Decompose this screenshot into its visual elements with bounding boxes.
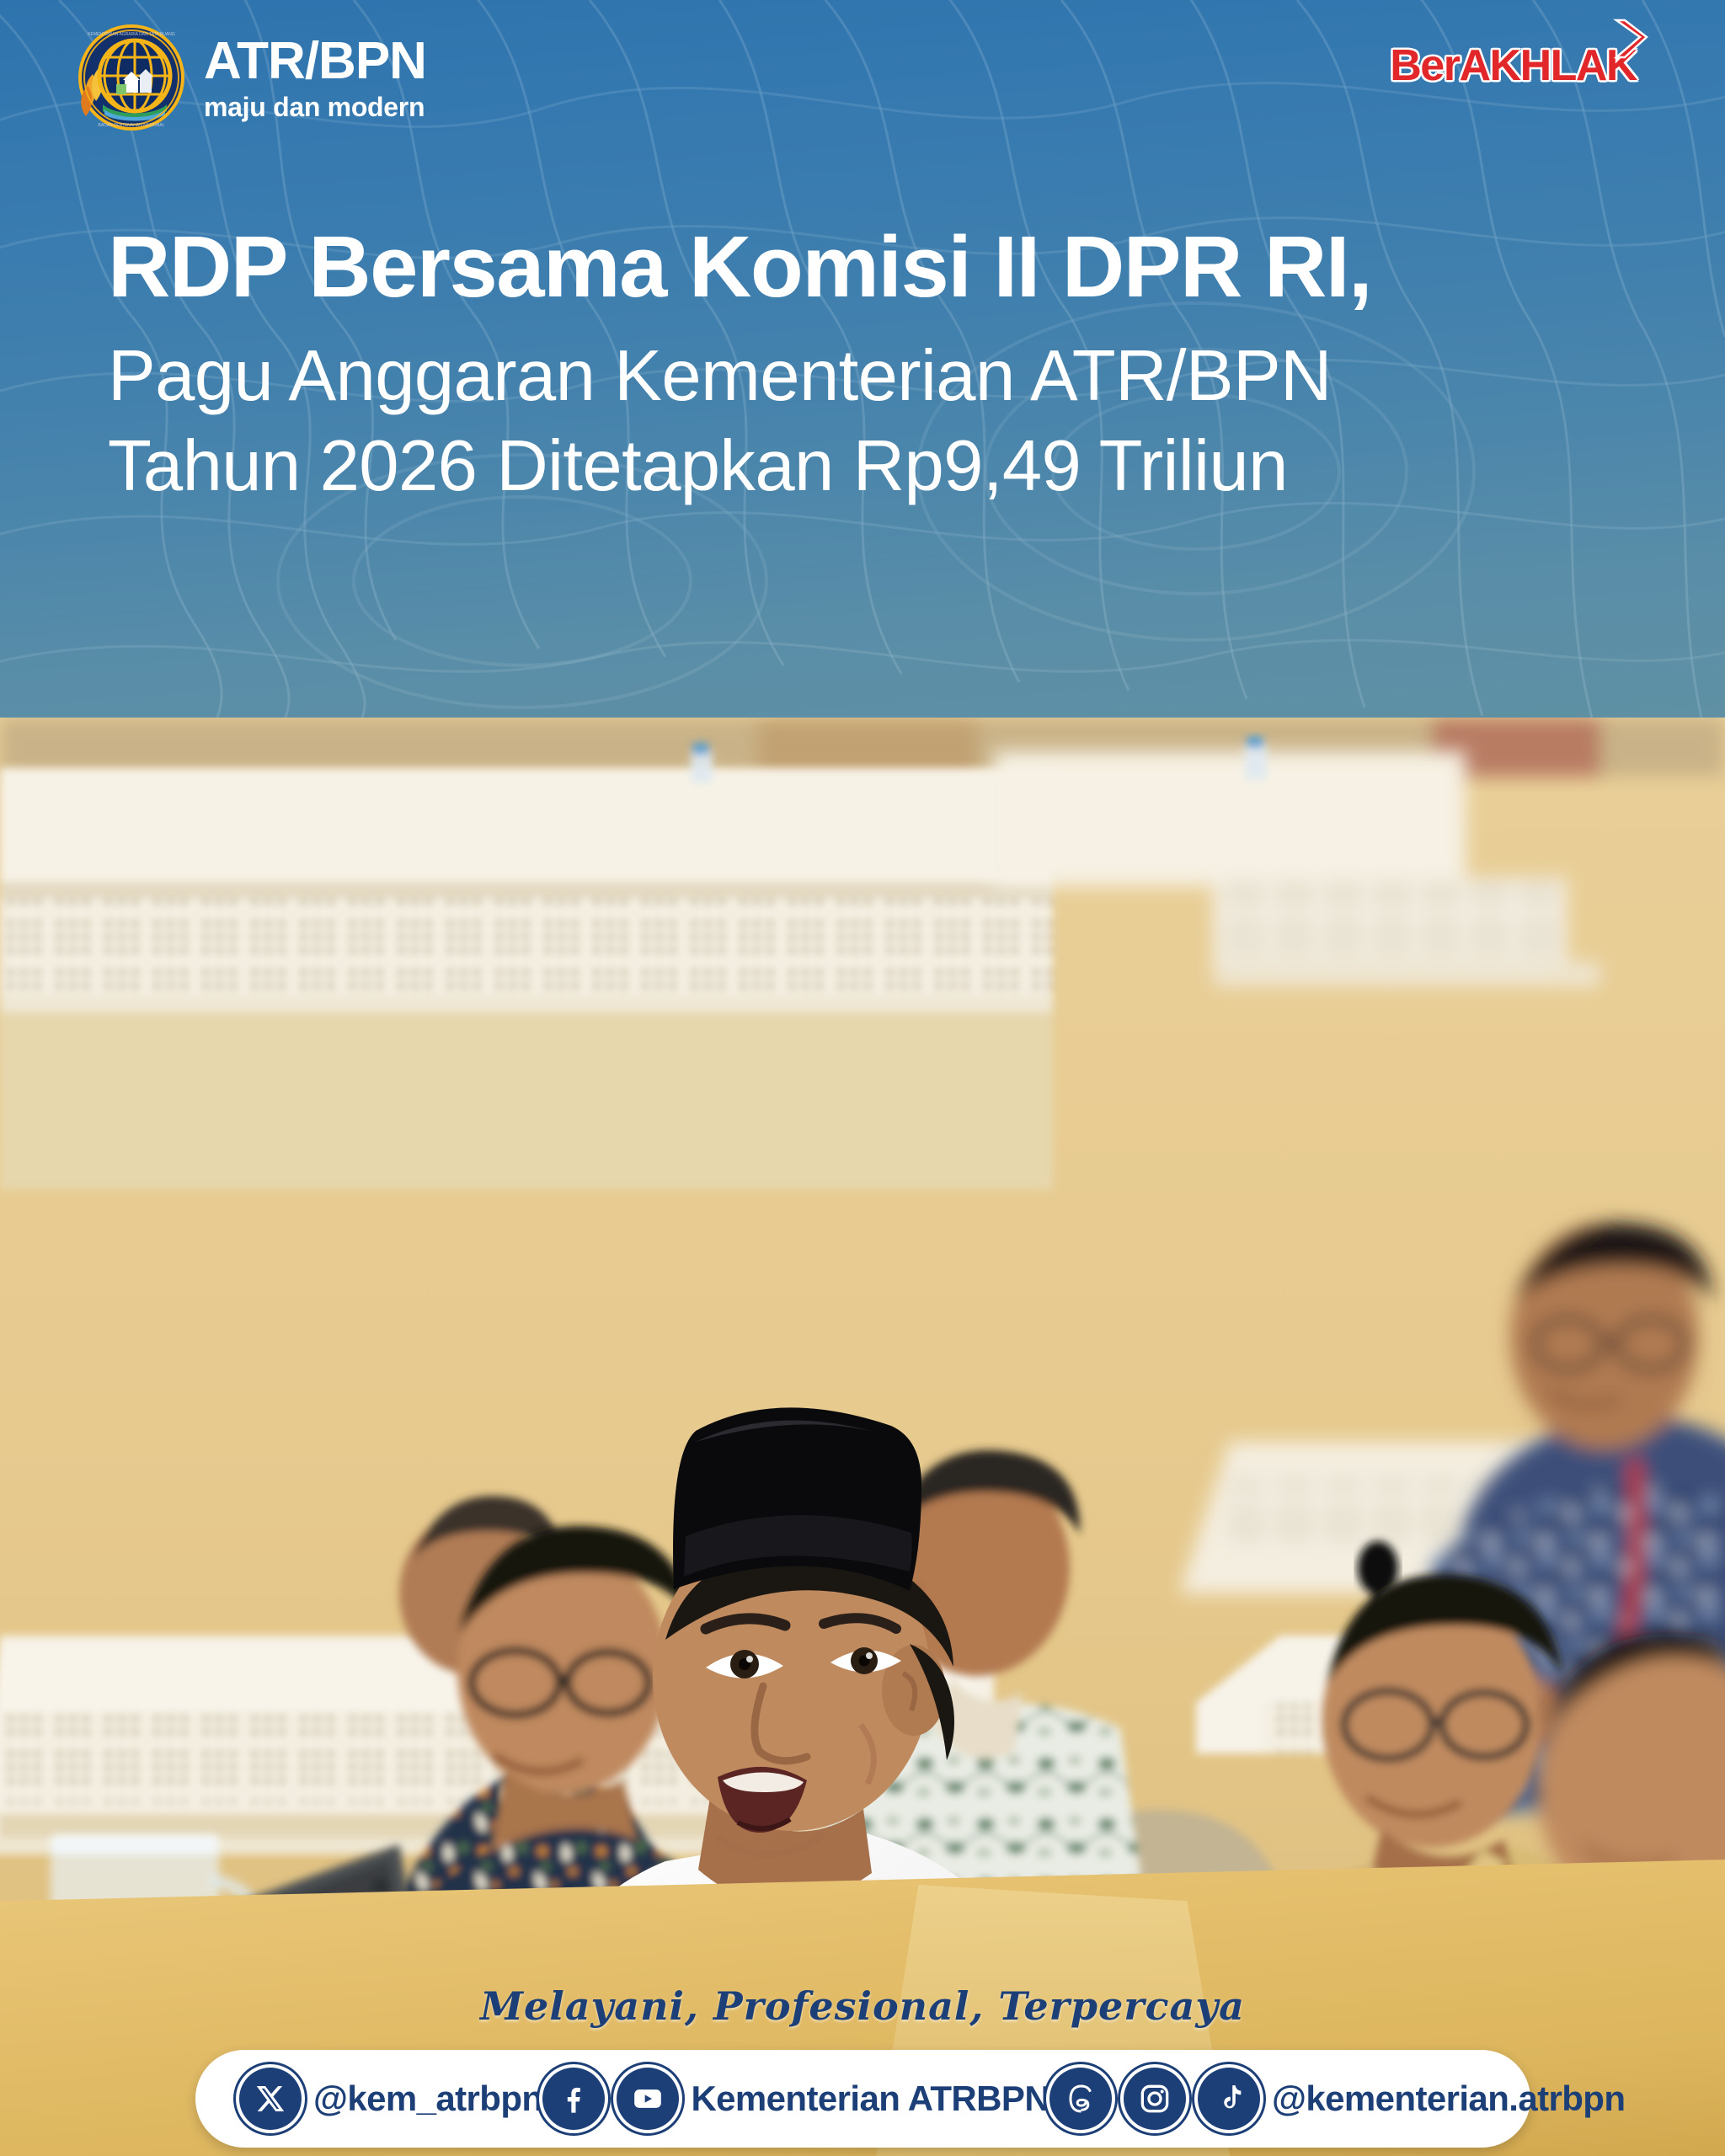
instagram-handle[interactable]: @kementerian.atrbpn — [1272, 2079, 1625, 2119]
svg-text:BADAN PERTANAHAN NASIONAL: BADAN PERTANAHAN NASIONAL — [98, 123, 164, 128]
social-group-threads-instagram-tiktok: @kementerian.atrbpn — [1049, 2068, 1625, 2130]
headline-block: RDP Bersama Komisi II DPR RI, Pagu Angga… — [108, 221, 1540, 511]
x-twitter-handle[interactable]: @kem_atrbpn — [313, 2079, 542, 2119]
instagram-icon[interactable] — [1124, 2068, 1186, 2130]
social-group-facebook-youtube: Kementerian ATRBPN — [542, 2068, 1049, 2130]
logo-tagline: maju dan modern — [204, 93, 426, 120]
logo-title: ATR/BPN — [204, 35, 426, 88]
tiktok-icon[interactable] — [1198, 2068, 1260, 2130]
page-subtitle-line1: Pagu Anggaran Kementerian ATR/BPN — [108, 331, 1540, 421]
atr-bpn-emblem-icon: KEMENTERIAN AGRARIA DAN TATA RUANG BADAN… — [77, 24, 185, 131]
social-footer-bar: @kem_atrbpn Kementerian ATRBPN — [195, 2050, 1530, 2148]
threads-icon[interactable] — [1049, 2068, 1112, 2130]
berakhlak-chevron-icon — [1608, 17, 1648, 61]
poster-root: KEMENTERIAN AGRARIA DAN TATA RUANG BADAN… — [0, 0, 1725, 2156]
page-subtitle-line2: Tahun 2026 Ditetapkan Rp9,49 Triliun — [108, 421, 1540, 511]
svg-text:KEMENTERIAN AGRARIA DAN TATA R: KEMENTERIAN AGRARIA DAN TATA RUANG — [88, 32, 175, 37]
atr-bpn-logo: KEMENTERIAN AGRARIA DAN TATA RUANG BADAN… — [77, 24, 426, 131]
page-title: RDP Bersama Komisi II DPR RI, — [108, 221, 1540, 312]
facebook-icon[interactable] — [542, 2068, 605, 2130]
facebook-youtube-handle[interactable]: Kementerian ATRBPN — [691, 2079, 1049, 2119]
berakhlak-label: BerAKHLAK — [1390, 41, 1637, 90]
berakhlak-logo: BerAKHLAK — [1390, 40, 1637, 91]
youtube-icon[interactable] — [617, 2068, 679, 2130]
x-twitter-icon[interactable] — [239, 2068, 302, 2130]
social-group-x: @kem_atrbpn — [239, 2068, 542, 2130]
header-banner: KEMENTERIAN AGRARIA DAN TATA RUANG BADAN… — [0, 0, 1725, 718]
